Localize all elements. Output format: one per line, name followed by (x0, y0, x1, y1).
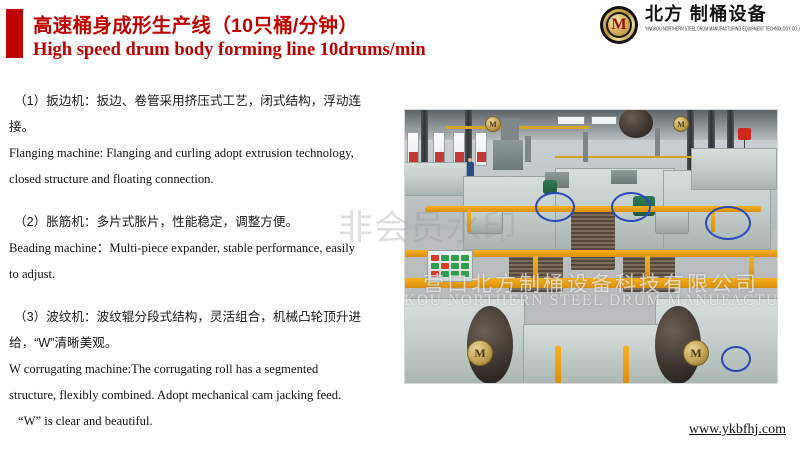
machine-housing (493, 140, 523, 170)
wall-window (407, 132, 419, 166)
rail-post (555, 346, 561, 383)
wall-window (453, 132, 465, 166)
pneumatic-hose (705, 206, 751, 240)
production-line-photo: M M M M 营口北方制桶设备科技有限公司 YINGKOU NORTHERN … (405, 110, 777, 383)
page-title-en: High speed drum body forming line 10drum… (33, 40, 426, 61)
paragraph-line-cn: （3）波纹机：波纹辊分段式结构，灵活组合，机械凸轮顶升进 (0, 304, 400, 330)
rail-post (467, 210, 471, 232)
website-url[interactable]: www.ykbfhj.com (689, 422, 786, 438)
pneumatic-hose (721, 346, 751, 372)
center-conveyor-frame (523, 324, 665, 383)
rail-post (623, 346, 629, 383)
page-header: 高速桶身成形生产线（10只桶/分钟） High speed drum body … (0, 0, 800, 76)
machine-body (405, 162, 467, 196)
paragraph-line-en: Flanging machine: Flanging and curling a… (0, 140, 400, 166)
paragraph-corrugating-machine: （3）波纹机：波纹辊分段式结构，灵活组合，机械凸轮顶升进 给，“W”清晰美观。 … (0, 304, 400, 434)
pneumatic-hose (535, 192, 575, 222)
logo-emblem-letter: M (611, 17, 626, 33)
pneumatic-hose (611, 192, 651, 222)
machine-emblem: M (673, 116, 689, 132)
logo-name-cn: 北方 制桶设备 (645, 5, 800, 24)
description-column: （1）扳边机：扳边、卷管采用挤压式工艺，闭式结构，浮动连 接。 Flanging… (0, 88, 400, 434)
wall-window (433, 132, 445, 166)
machine-housing (611, 170, 637, 184)
roller-stack (571, 206, 615, 270)
page-title-cn: 高速桶身成形生产线（10只桶/分钟） (33, 9, 358, 38)
machine-emblem: M (683, 340, 709, 366)
paragraph-line-en: structure, flexibly combined. Adopt mech… (0, 382, 400, 408)
paragraph-flanging-machine: （1）扳边机：扳边、卷管采用挤压式工艺，闭式结构，浮动连 接。 Flanging… (0, 88, 400, 192)
hoist (738, 128, 751, 140)
machine-emblem: M (467, 340, 493, 366)
photo-watermark-en: YINGKOU NORTHERN STEEL DRUM MANUFACTURIN… (405, 292, 777, 310)
paragraph-line-en: “W” is clear and beautiful. (0, 408, 400, 434)
paragraph-line-cn: 接。 (0, 114, 400, 140)
paragraph-beading-machine: （2）胀筋机：多片式胀片，性能稳定，调整方便。 Beading machine：… (0, 209, 400, 287)
skylight (557, 116, 585, 125)
paragraph-line-en: Beading machine：Multi-piece expander, st… (0, 235, 400, 261)
paragraph-line-en: closed structure and floating connection… (0, 166, 400, 192)
title-accent-bar (6, 9, 23, 58)
logo-name-en: YINGKOU NORTHERN STEEL DRUM MANUFACTURIN… (645, 26, 800, 32)
paragraph-line-en: W corrugating machine:The corrugating ro… (0, 356, 400, 382)
duct (655, 128, 660, 156)
skylight (591, 116, 617, 125)
paragraph-line-cn: （1）扳边机：扳边、卷管采用挤压式工艺，闭式结构，浮动连 (0, 88, 400, 114)
machine-emblem: M (485, 116, 501, 132)
machine-body (691, 148, 777, 190)
wall-window (475, 132, 487, 166)
paragraph-line-en: to adjust. (0, 261, 400, 287)
logo-emblem-icon: M (600, 6, 638, 44)
paragraph-line-cn: 给，“W”清晰美观。 (0, 330, 400, 356)
duct (525, 136, 531, 162)
duct (583, 132, 588, 162)
company-logo: M 北方 制桶设备 YINGKOU NORTHERN STEEL DRUM MA… (600, 5, 792, 50)
paragraph-line-cn: （2）胀筋机：多片式胀片，性能稳定，调整方便。 (0, 209, 400, 235)
